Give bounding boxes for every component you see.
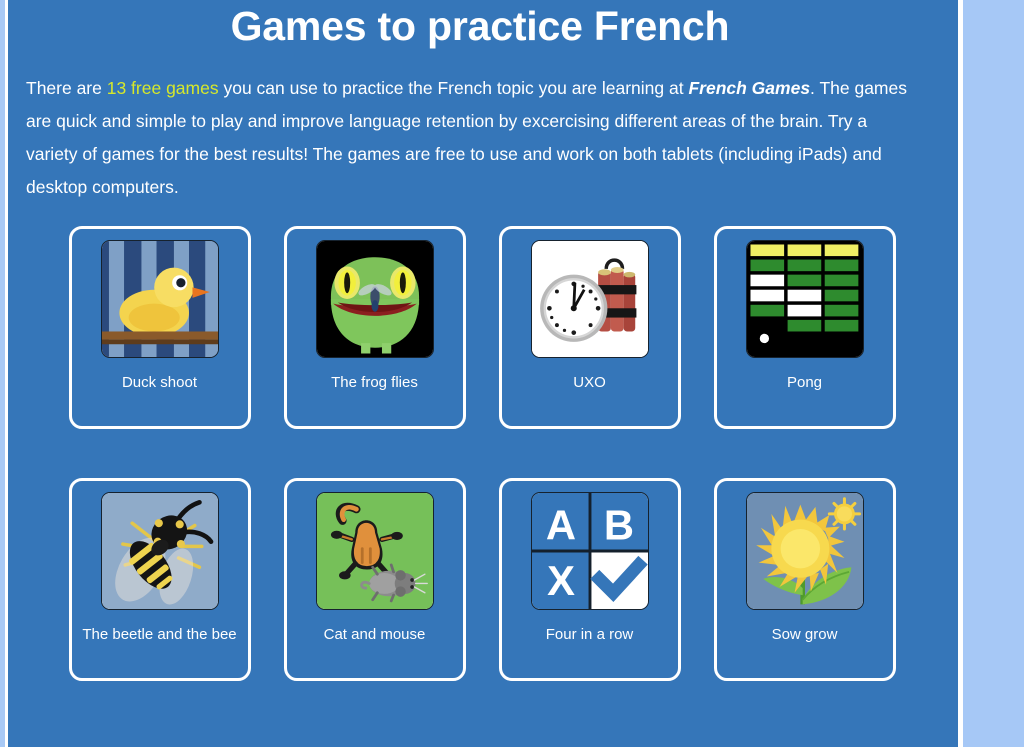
svg-text:A: A [545, 502, 575, 549]
game-card-label: Pong [783, 374, 826, 392]
svg-text:B: B [603, 502, 633, 549]
game-card-cat-and-mouse[interactable]: Cat and mouse [284, 478, 466, 681]
clock-dynamite-icon [531, 240, 649, 358]
frog-icon [316, 240, 434, 358]
wasp-icon [101, 492, 219, 610]
page-root: Games to practice French There are 13 fr… [0, 0, 1024, 747]
page-title: Games to practice French [8, 2, 958, 50]
game-card-the-frog-flies[interactable]: The frog flies [284, 226, 466, 429]
game-card-label: UXO [569, 374, 610, 392]
game-card-label: The beetle and the bee [78, 626, 240, 644]
abx-check-grid-icon: A B X [531, 492, 649, 610]
game-card-uxo[interactable]: UXO [499, 226, 681, 429]
game-card-pong[interactable]: Pong [714, 226, 896, 429]
game-card-sow-grow[interactable]: Sow grow [714, 478, 896, 681]
sunflower-icon [746, 492, 864, 610]
duck-icon [101, 240, 219, 358]
free-games-link[interactable]: 13 free games [107, 78, 219, 98]
game-card-four-in-a-row[interactable]: A B X Four in a row [499, 478, 681, 681]
game-card-label: Cat and mouse [320, 626, 430, 644]
right-side-panel [963, 0, 1024, 747]
game-card-label: Duck shoot [118, 374, 201, 392]
intro-text-part2: you can use to practice the French topic… [219, 78, 689, 98]
svg-text:X: X [547, 557, 575, 604]
cat-mouse-icon [316, 492, 434, 610]
intro-text-part1: There are [26, 78, 107, 98]
french-games-emphasis: French Games [688, 78, 810, 98]
brick-grid-icon [746, 240, 864, 358]
game-card-duck-shoot[interactable]: Duck shoot [69, 226, 251, 429]
game-card-label: Four in a row [542, 626, 638, 644]
intro-paragraph: There are 13 free games you can use to p… [8, 50, 938, 204]
main-content-panel: Games to practice French There are 13 fr… [8, 0, 958, 747]
game-card-label: Sow grow [768, 626, 842, 644]
game-card-label: The frog flies [327, 374, 422, 392]
games-grid: Duck shoot [8, 226, 958, 681]
game-card-the-beetle-and-the-bee[interactable]: The beetle and the bee [69, 478, 251, 681]
